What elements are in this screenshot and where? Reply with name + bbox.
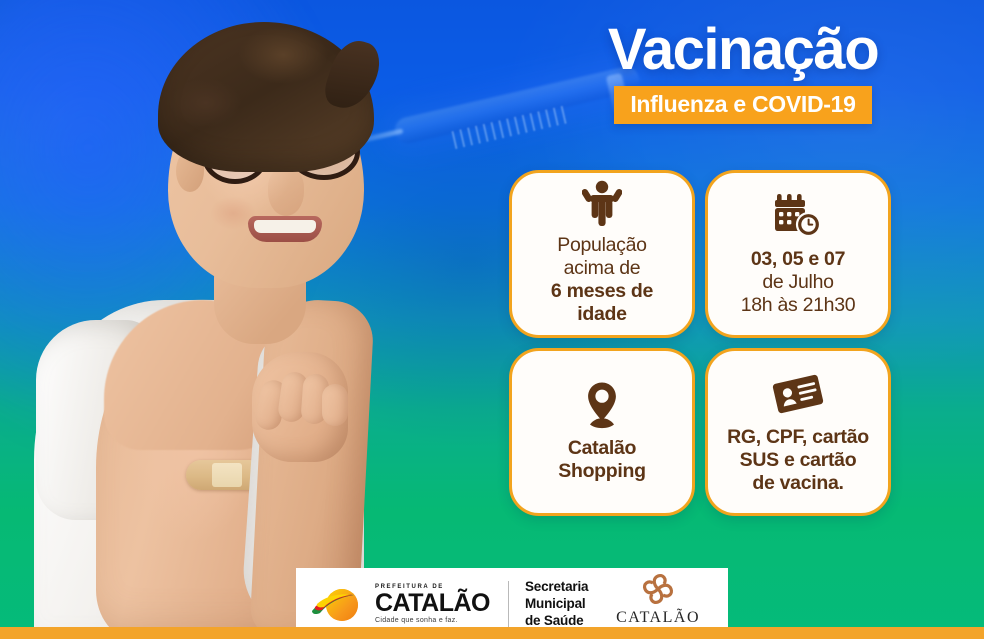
info-card-dates: 03, 05 e 07 de Julho 18h às 21h30 <box>705 170 891 338</box>
shopping-name: CATALÃO <box>616 609 700 626</box>
person-photo <box>0 0 470 639</box>
prefeitura-name: CATALÃO <box>375 591 490 616</box>
teeth <box>254 220 316 233</box>
headline-block: Vacinação Influenza e COVID-19 <box>528 18 958 124</box>
card-line: de vacina. <box>727 472 869 495</box>
smiling-mouth <box>248 216 322 242</box>
info-card-text: RG, CPF, cartão SUS e cartão de vacina. <box>727 426 869 495</box>
card-line: 18h às 21h30 <box>741 294 856 317</box>
info-card-location: Catalão Shopping <box>509 348 695 516</box>
prefeitura-wordmark: PREFEITURA DE CATALÃO Cidade que sonha e… <box>375 584 490 624</box>
map-pin-icon <box>582 379 622 431</box>
info-card-text: 03, 05 e 07 de Julho 18h às 21h30 <box>741 248 856 317</box>
shopping-petal-icon <box>640 573 676 607</box>
secretaria-saude-label: Secretaria Municipal de Saúde <box>525 578 616 629</box>
card-line: de Julho <box>741 271 856 294</box>
info-card-text: Catalão Shopping <box>558 437 646 483</box>
card-line: Catalão <box>558 437 646 460</box>
footer-divider <box>508 581 509 627</box>
info-card-grid: População acima de 6 meses de idade <box>509 170 891 516</box>
id-card-icon <box>771 368 825 420</box>
card-line: RG, CPF, cartão <box>727 426 869 449</box>
poster-title: Vacinação <box>528 18 958 82</box>
card-line: Shopping <box>558 460 646 483</box>
card-line: 03, 05 e 07 <box>741 248 856 271</box>
card-line: 6 meses de <box>551 280 653 303</box>
poster-subtitle-banner: Influenza e COVID-19 <box>614 86 871 124</box>
info-card-population: População acima de 6 meses de idade <box>509 170 695 338</box>
card-line: SUS e cartão <box>727 449 869 472</box>
info-card-documents: RG, CPF, cartão SUS e cartão de vacina. <box>705 348 891 516</box>
card-line: acima de <box>551 257 653 280</box>
catalao-shopping-logo: CATALÃO SHOPPING <box>616 573 700 634</box>
finger <box>322 384 348 426</box>
prefeitura-emblem-icon <box>310 583 368 625</box>
card-line: idade <box>551 303 653 326</box>
calendar-clock-icon <box>774 190 822 242</box>
prefeitura-tagline: Cidade que sonha e faz. <box>375 617 490 624</box>
secretaria-line-1: Secretaria Municipal <box>525 578 616 612</box>
vaccination-campaign-poster: Vacinação Influenza e COVID-19 População… <box>0 0 984 639</box>
person-raised-arms-icon <box>582 180 622 228</box>
bottom-accent-strip <box>0 627 984 639</box>
card-line: População <box>551 234 653 257</box>
prefeitura-catalao-logo: PREFEITURA DE CATALÃO Cidade que sonha e… <box>310 583 490 625</box>
info-card-text: População acima de 6 meses de idade <box>551 234 653 326</box>
